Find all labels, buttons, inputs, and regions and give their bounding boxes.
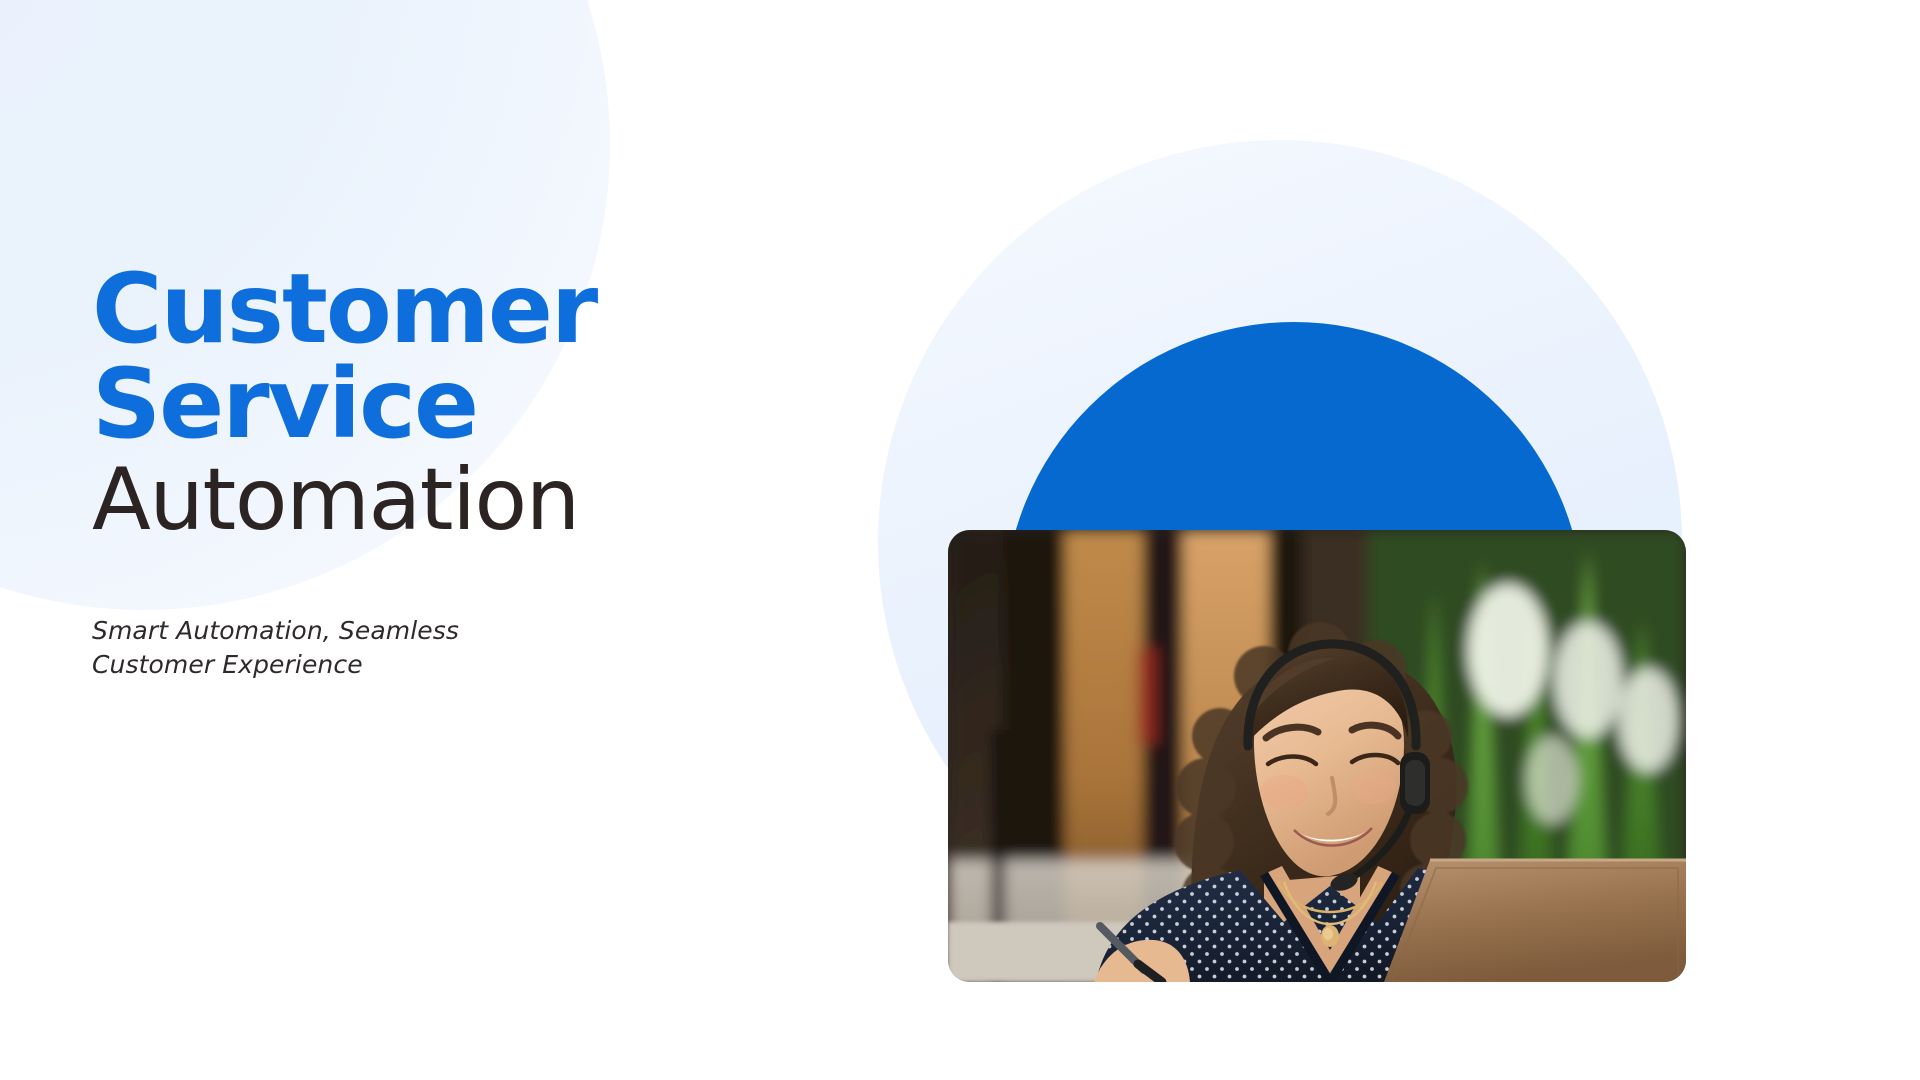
page-title: Customer Service [92,262,812,452]
slide-canvas: Customer Service Automation Smart Automa… [0,0,1920,1080]
customer-service-agent-photo [948,530,1686,982]
tagline: Smart Automation, Seamless Customer Expe… [92,614,812,683]
hero-photo-card [948,530,1686,982]
headline-text-block: Customer Service Automation Smart Automa… [92,262,812,683]
page-subtitle: Automation [92,456,812,545]
